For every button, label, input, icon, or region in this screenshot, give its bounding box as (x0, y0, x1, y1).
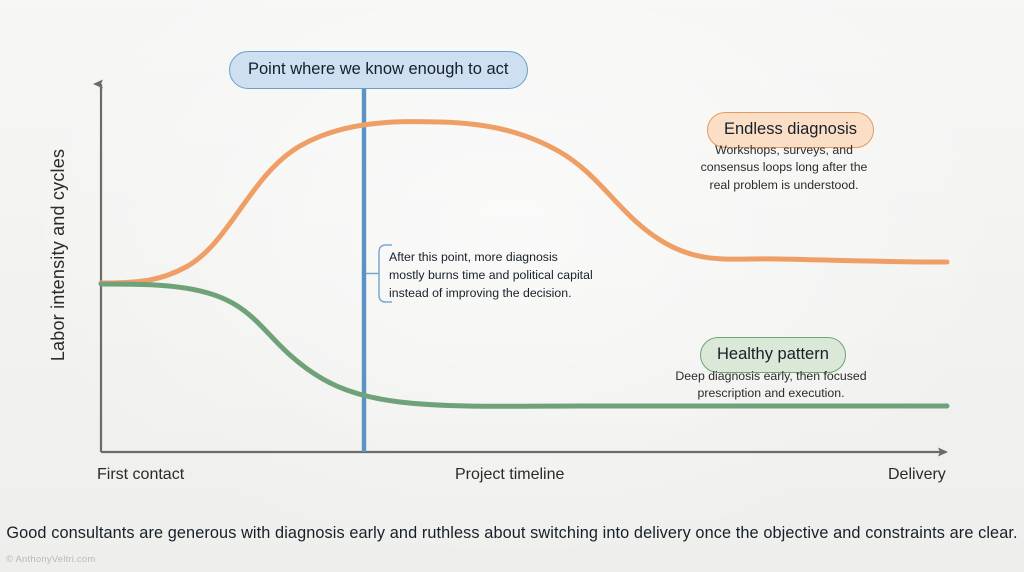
x-tick-first-contact: First contact (97, 466, 184, 484)
y-axis-label: Labor intensity and cycles (48, 105, 69, 405)
series-description-healthy-pattern: Deep diagnosis early, then focused presc… (664, 368, 878, 403)
x-tick-delivery: Delivery (888, 466, 946, 484)
decision-marker-pill: Point where we know enough to act (229, 51, 528, 89)
x-tick-project-timeline: Project timeline (455, 466, 564, 484)
watermark-credit: © AnthonyVeltri.com (6, 554, 95, 565)
figure-canvas: Labor intensity and cycles First contact… (0, 0, 1024, 572)
series-description-endless-diagnosis: Workshops, surveys, and consensus loops … (686, 142, 882, 194)
figure-caption: Good consultants are generous with diagn… (0, 524, 1024, 543)
callout-text: After this point, more diagnosis mostly … (389, 249, 604, 302)
